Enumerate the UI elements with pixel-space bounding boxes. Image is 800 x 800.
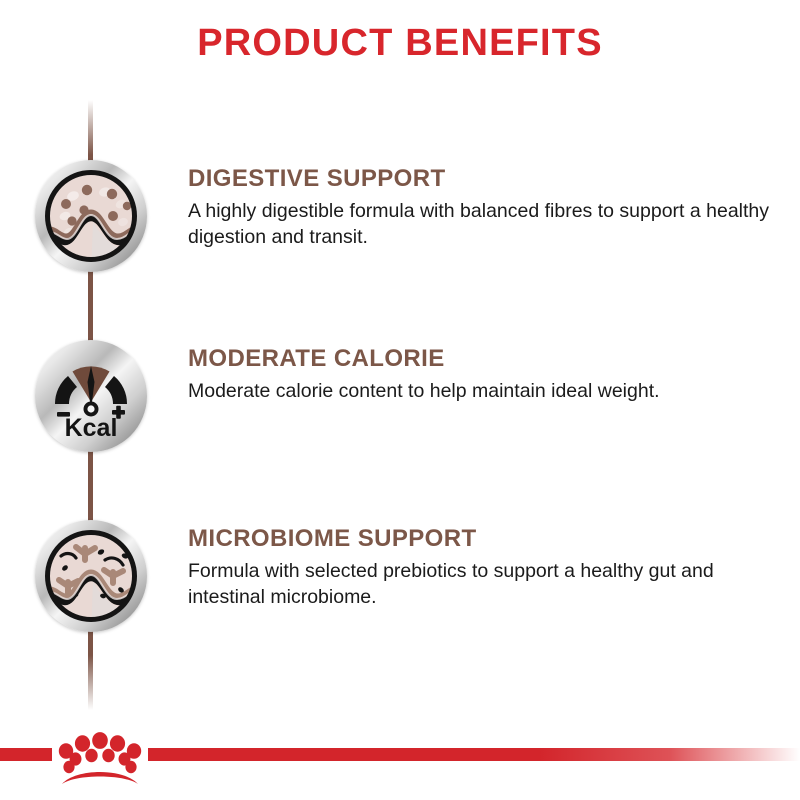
benefit-heading: DIGESTIVE SUPPORT <box>188 166 788 192</box>
benefit-row: DIGESTIVE SUPPORT A highly digestible fo… <box>0 160 800 280</box>
benefit-text-block: MODERATE CALORIE Moderate calorie conten… <box>188 346 788 405</box>
footer-bar-right <box>148 748 800 761</box>
benefit-description: Formula with selected prebiotics to supp… <box>188 559 776 611</box>
kcal-gauge-icon: Kcal <box>35 340 147 452</box>
benefit-description: Moderate calorie content to help maintai… <box>188 379 776 405</box>
benefit-text-block: DIGESTIVE SUPPORT A highly digestible fo… <box>188 166 788 251</box>
benefit-row: Kcal MODERATE CALORIE Moderate calorie c… <box>0 340 800 460</box>
microbiome-bacteria-icon <box>35 520 147 632</box>
benefit-heading: MICROBIOME SUPPORT <box>188 526 788 552</box>
digestive-tract-icon <box>35 160 147 272</box>
footer <box>0 704 800 800</box>
benefit-description: A highly digestible formula with balance… <box>188 199 776 251</box>
benefit-row: MICROBIOME SUPPORT Formula with selected… <box>0 520 800 640</box>
benefit-text-block: MICROBIOME SUPPORT Formula with selected… <box>188 526 788 611</box>
page-title: PRODUCT BENEFITS <box>0 22 800 65</box>
royal-canin-crown-logo <box>54 724 146 786</box>
svg-text:Kcal: Kcal <box>65 414 118 442</box>
benefit-heading: MODERATE CALORIE <box>188 346 788 372</box>
footer-bar-left <box>0 748 52 761</box>
